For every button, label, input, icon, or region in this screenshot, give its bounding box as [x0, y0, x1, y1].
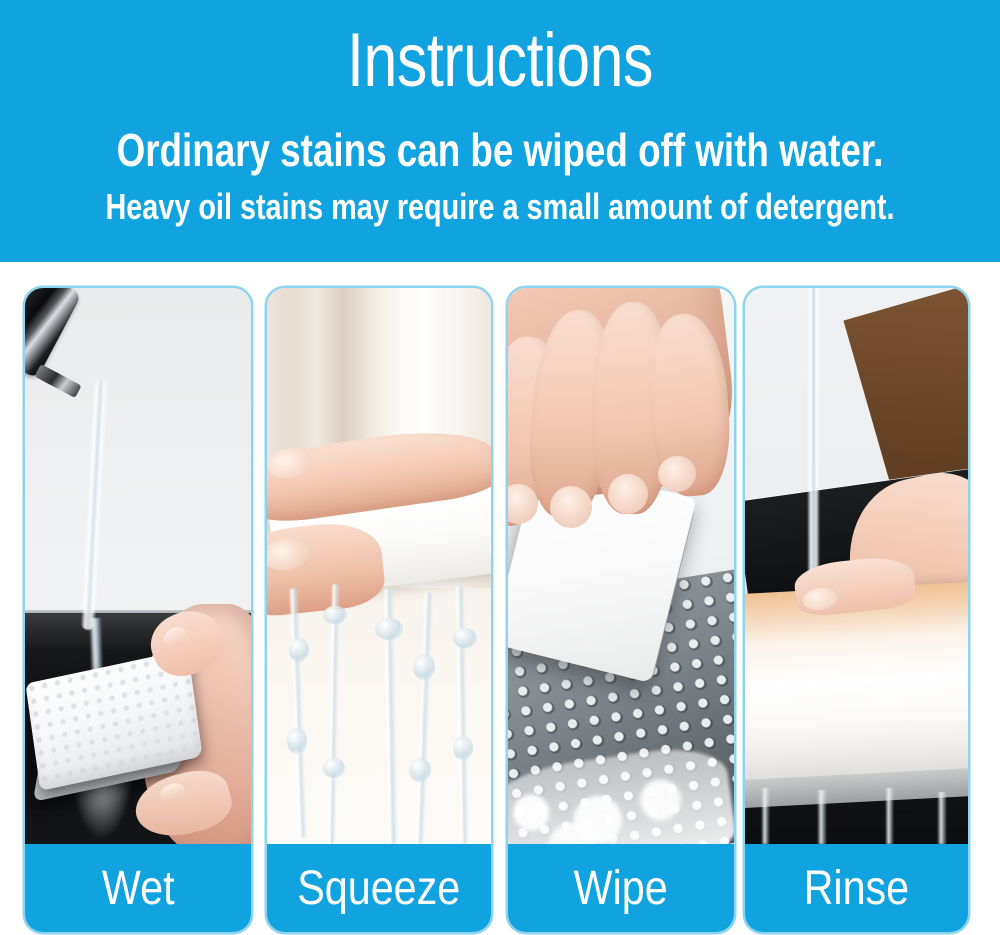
step-label-text: Wipe	[574, 861, 668, 916]
water-bead-9	[453, 736, 473, 760]
step-label-text: Wet	[102, 861, 175, 916]
header-subtitle-line-1: Ordinary stains can be wiped off with wa…	[100, 124, 900, 176]
step-photo-rinse	[745, 288, 968, 844]
water-runoff-4	[937, 792, 947, 844]
step-label-text: Rinse	[804, 861, 910, 916]
steps-gallery: Wet Squeeze	[0, 285, 1000, 933]
water-stream	[807, 288, 820, 584]
sponge	[745, 582, 968, 795]
water-bead-1	[289, 638, 309, 662]
water-bead-5	[453, 628, 477, 648]
step-label-squeeze: Squeeze	[267, 844, 491, 932]
water-bead-2	[323, 606, 347, 624]
water-bead-3	[375, 618, 403, 640]
header-subtitle-line-2: Heavy oil stains may require a small amo…	[100, 186, 900, 228]
instructions-header: Instructions Ordinary stains can be wipe…	[0, 0, 1000, 262]
water-bead-8	[409, 758, 431, 782]
step-card-rinse: Rinse	[745, 288, 968, 932]
step-card-squeeze: Squeeze	[267, 288, 491, 932]
step-label-rinse: Rinse	[745, 844, 968, 932]
step-label-text: Squeeze	[298, 861, 461, 916]
water-bead-6	[287, 728, 307, 754]
fingernail-3	[608, 474, 648, 514]
step-photo-squeeze	[267, 288, 491, 844]
step-label-wet: Wet	[25, 844, 251, 932]
water-bead-7	[323, 758, 345, 778]
water-runoff-2	[817, 790, 827, 844]
water-runoff-3	[885, 788, 894, 844]
water-runoff-1	[761, 788, 770, 844]
step-photo-wet	[25, 288, 251, 844]
step-card-wipe: Wipe	[508, 288, 734, 932]
step-label-wipe: Wipe	[508, 844, 734, 932]
page-title: Instructions	[100, 18, 900, 104]
step-photo-wipe	[508, 288, 734, 844]
step-card-wet: Wet	[25, 288, 251, 932]
water-bead-4	[413, 654, 435, 680]
